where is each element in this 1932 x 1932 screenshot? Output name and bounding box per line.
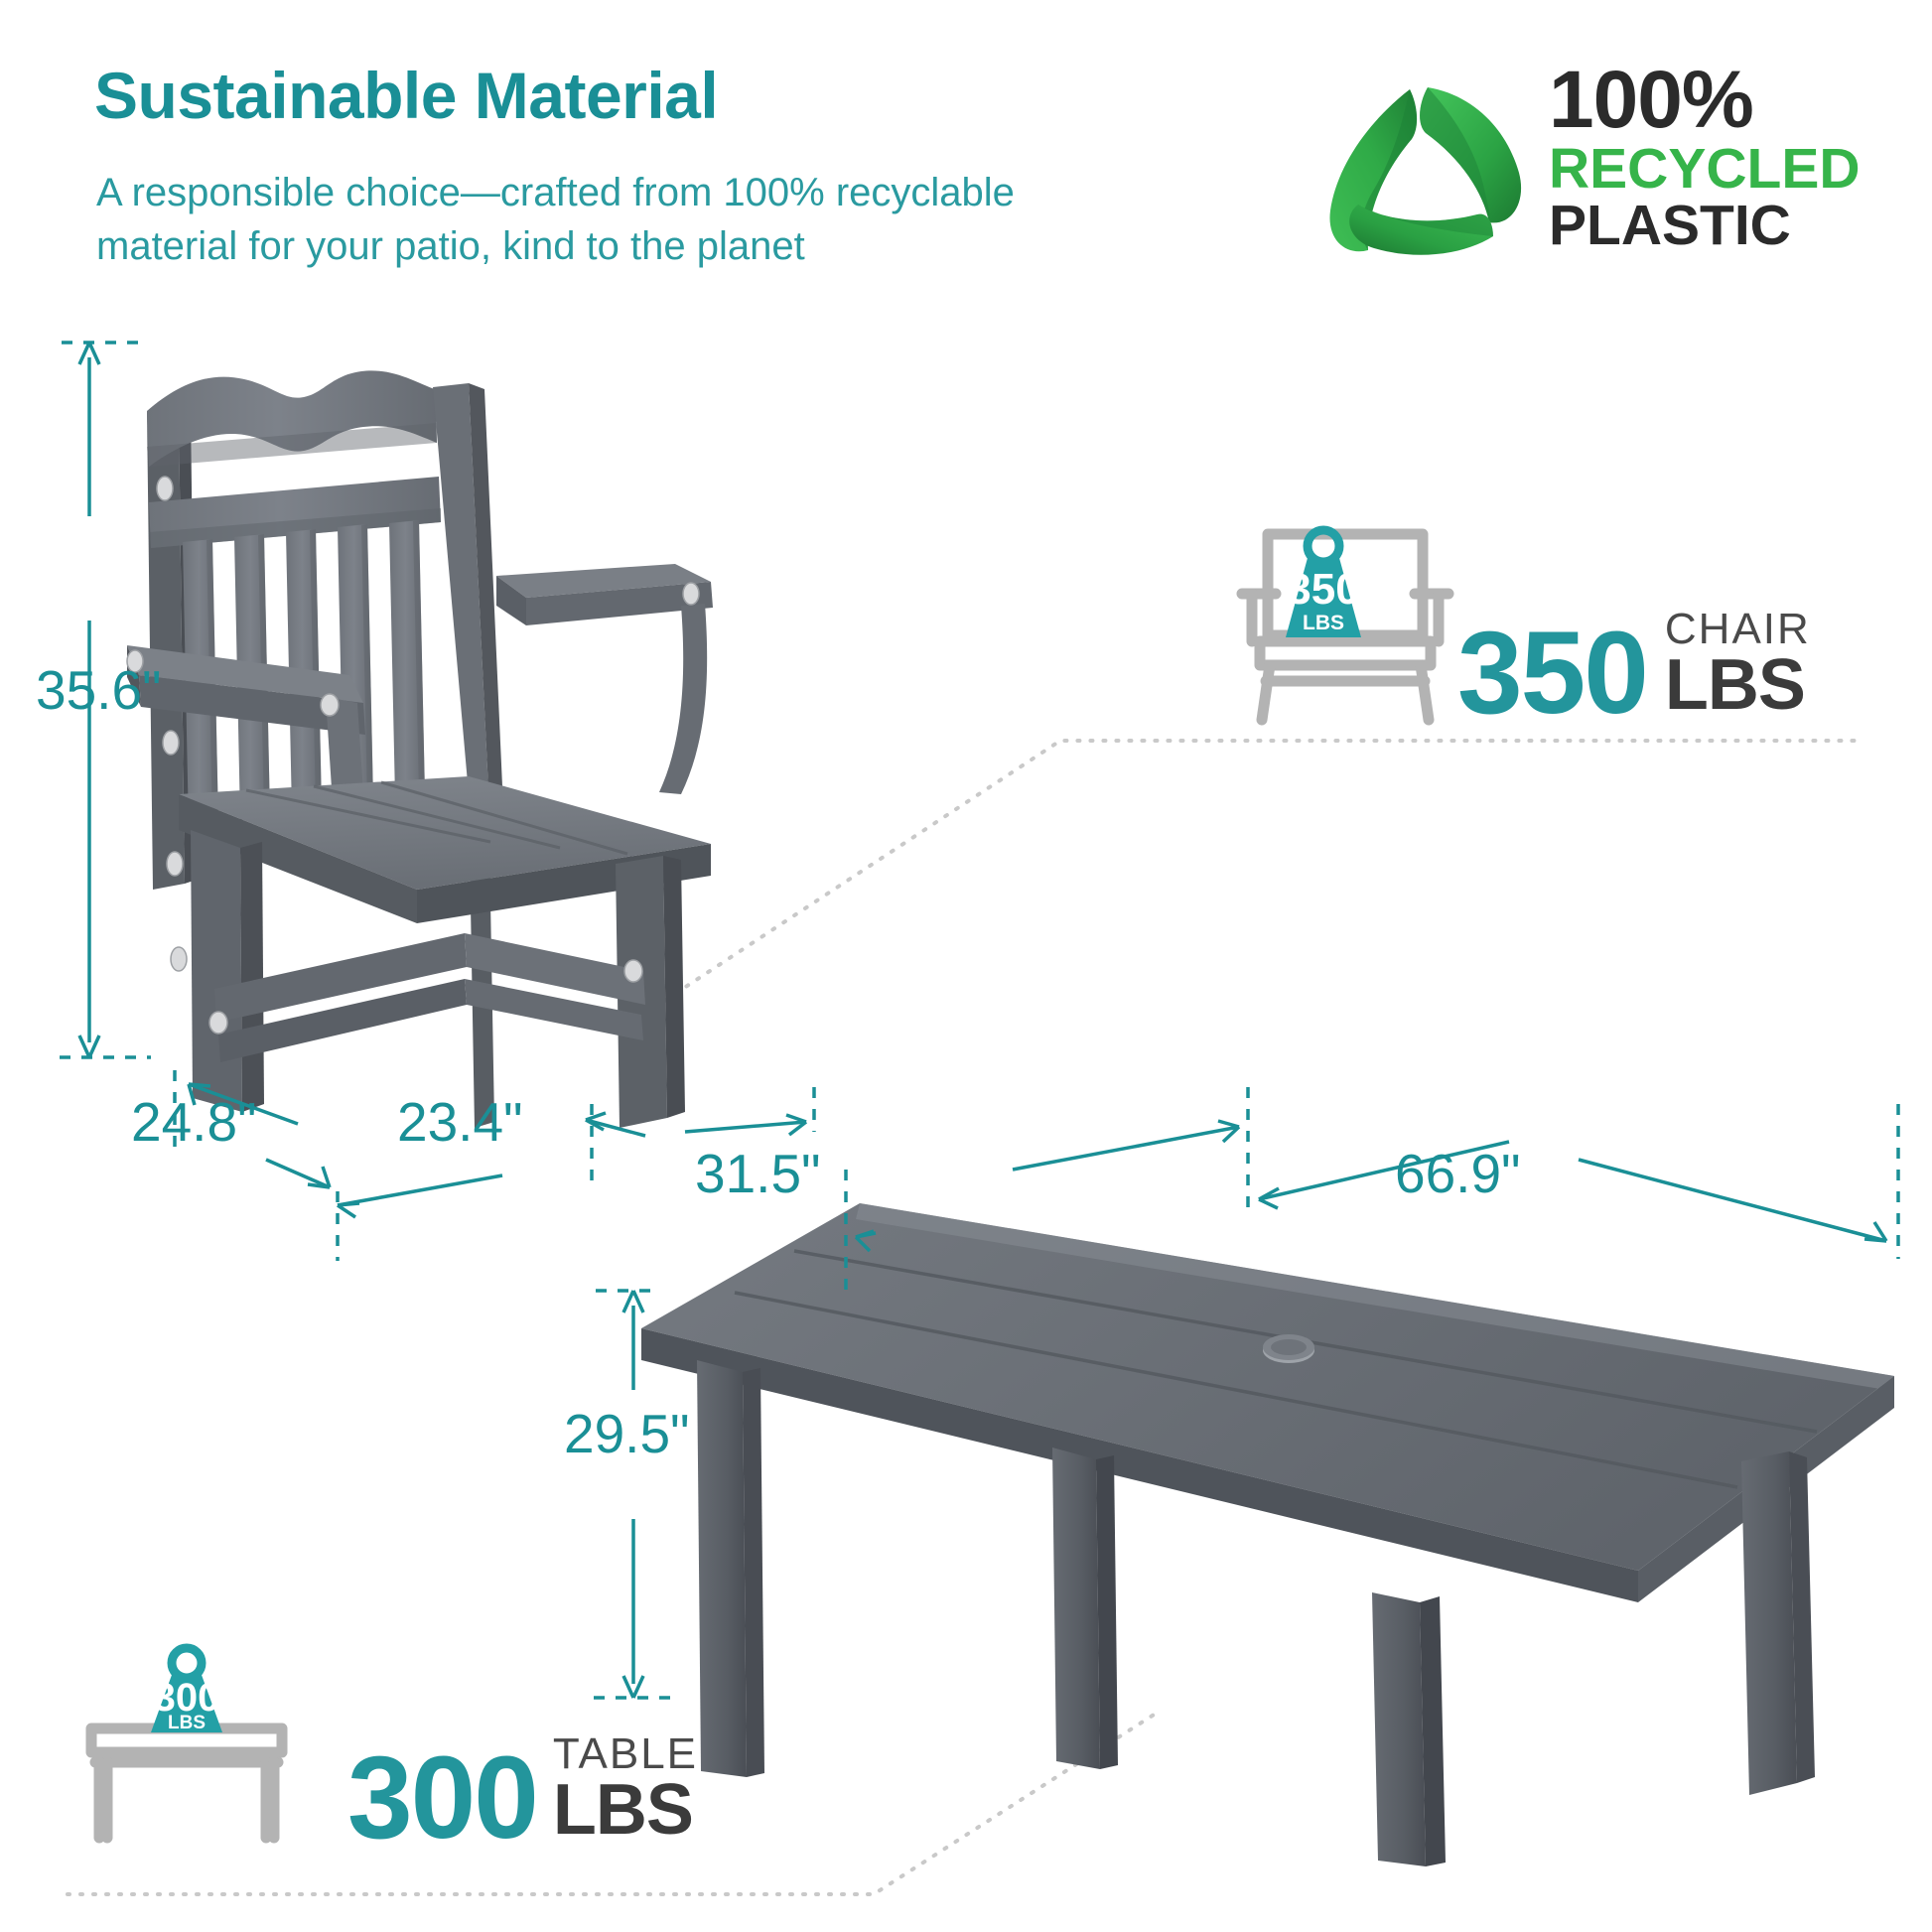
table-height-dimension: 29.5" [564, 1402, 690, 1465]
table-capacity-unit: LBS [553, 1776, 698, 1844]
table-depth-dimension: 31.5" [695, 1142, 821, 1205]
table-width-dimension: 66.9" [1395, 1142, 1521, 1205]
table-weight-icon-unit: LBS [168, 1713, 206, 1733]
table-capacity-icon: 300 LBS [77, 1643, 296, 1842]
table-capacity-block: 300 TABLE LBS [347, 1732, 698, 1852]
table-capacity-value: 300 [347, 1744, 537, 1853]
